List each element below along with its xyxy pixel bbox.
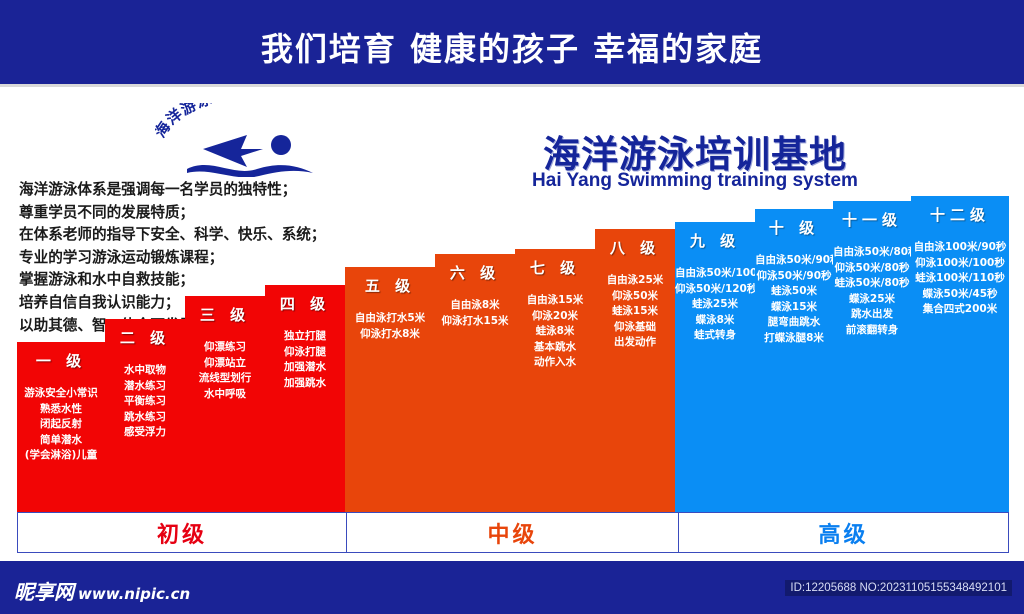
level-title: 七 级 [515, 257, 595, 278]
level-title: 二 级 [105, 327, 185, 348]
level-item: 蛙泳25米 [675, 297, 755, 313]
level-item-list: 自由泳8米仰泳打水15米 [435, 298, 515, 329]
level-item: 蝶泳8米 [675, 313, 755, 329]
level-title: 四 级 [265, 293, 345, 314]
level-item: 蝶泳25米 [833, 292, 911, 308]
level-item: 仰泳50米/120秒 [675, 282, 755, 298]
level-item: 自由泳15米 [515, 293, 595, 309]
level-title: 十二级 [911, 204, 1009, 225]
level-item: 自由泳50米/80秒 [833, 245, 911, 261]
level-item-list: 水中取物潜水练习平衡练习跳水练习感受浮力 [105, 363, 185, 441]
level-item: 仰漂站立 [185, 356, 265, 372]
level-title: 六 级 [435, 262, 515, 283]
level-item: 蛙泳100米/110秒 [911, 271, 1009, 287]
level-item: 独立打腿 [265, 329, 345, 345]
level-item: 加强潜水 [265, 360, 345, 376]
level-item: 基本跳水 [515, 340, 595, 356]
level-item: 腿弯曲跳水 [755, 315, 833, 331]
level-title: 九 级 [675, 230, 755, 251]
level-item-list: 自由泳打水5米仰泳打水8米 [345, 311, 435, 342]
footer-brand: 昵享网www.nipic.cn [14, 576, 190, 605]
footer-brand-name: 昵享网 [14, 580, 74, 604]
level-item-list: 自由泳25米仰泳50米蛙泳15米仰泳基础出发动作 [595, 273, 675, 351]
level-item: 仰泳20米 [515, 309, 595, 325]
level-step[interactable]: 十一级自由泳50米/80秒仰泳50米/80秒蛙泳50米/80秒蝶泳25米跳水出发… [833, 201, 911, 512]
level-item: 仰泳打水8米 [345, 327, 435, 343]
level-item-list: 自由泳50米/90秒仰泳50米/90秒蛙泳50米蝶泳15米腿弯曲跳水打蝶泳腿8米 [755, 253, 833, 346]
level-item: 动作入水 [515, 355, 595, 371]
level-item: 游泳安全小常识 [17, 386, 105, 402]
level-item: 仰泳100米/100秒 [911, 256, 1009, 272]
level-item: 跳水练习 [105, 410, 185, 426]
level-item: 自由泳25米 [595, 273, 675, 289]
level-item-list: 自由泳100米/90秒仰泳100米/100秒蛙泳100米/110秒蝶泳50米/4… [911, 240, 1009, 318]
level-item: 出发动作 [595, 335, 675, 351]
level-item-list: 游泳安全小常识熟悉水性闭起反射简单潜水(学会淋浴)儿童 [17, 386, 105, 464]
level-item-list: 自由泳50米/80秒仰泳50米/80秒蛙泳50米/80秒蝶泳25米跳水出发前滚翻… [833, 245, 911, 338]
level-item: 蛙式转身 [675, 328, 755, 344]
level-item: 感受浮力 [105, 425, 185, 441]
level-step[interactable]: 五 级自由泳打水5米仰泳打水8米 [345, 267, 435, 512]
level-item: 蛙泳15米 [595, 304, 675, 320]
level-item: 加强跳水 [265, 376, 345, 392]
level-item: 仰泳打腿 [265, 345, 345, 361]
level-item-list: 自由泳50米/100秒仰泳50米/120秒蛙泳25米蝶泳8米蛙式转身 [675, 266, 755, 344]
level-title: 八 级 [595, 237, 675, 258]
level-item: 自由泳8米 [435, 298, 515, 314]
level-item-list: 独立打腿仰泳打腿加强潜水加强跳水 [265, 329, 345, 391]
level-step[interactable]: 八 级自由泳25米仰泳50米蛙泳15米仰泳基础出发动作 [595, 229, 675, 512]
level-item: 仰漂练习 [185, 340, 265, 356]
category-label-3[interactable]: 高级 [679, 513, 1008, 552]
level-item: 蝶泳15米 [755, 300, 833, 316]
level-item: 自由泳50米/90秒 [755, 253, 833, 269]
level-item: 仰泳50米 [595, 289, 675, 305]
level-title: 五 级 [345, 275, 435, 296]
level-item: 仰泳50米/90秒 [755, 269, 833, 285]
level-step[interactable]: 九 级自由泳50米/100秒仰泳50米/120秒蛙泳25米蝶泳8米蛙式转身 [675, 222, 755, 512]
level-step[interactable]: 六 级自由泳8米仰泳打水15米 [435, 254, 515, 512]
top-banner: 我们培育 健康的孩子 幸福的家庭 [0, 0, 1024, 84]
level-item-list: 仰漂练习仰漂站立流线型划行水中呼吸 [185, 340, 265, 402]
level-title: 三 级 [185, 304, 265, 325]
level-item: 前滚翻转身 [833, 323, 911, 339]
level-item: 集合四式200米 [911, 302, 1009, 318]
poster-root: 我们培育 健康的孩子 幸福的家庭 海洋游泳培训体系 海洋游泳培训基地 Hai Y… [0, 0, 1024, 614]
level-item: 闭起反射 [17, 417, 105, 433]
level-item: 蛙泳50米 [755, 284, 833, 300]
category-bar: 初级中级高级 [17, 512, 1009, 553]
level-item: 蛙泳50米/80秒 [833, 276, 911, 292]
level-item: 蝶泳50米/45秒 [911, 287, 1009, 303]
level-item-list: 自由泳15米仰泳20米蛙泳8米基本跳水动作入水 [515, 293, 595, 371]
level-item: 水中呼吸 [185, 387, 265, 403]
level-item: 自由泳100米/90秒 [911, 240, 1009, 256]
level-item: 仰泳基础 [595, 320, 675, 336]
level-item: 自由泳50米/100秒 [675, 266, 755, 282]
category-label-2[interactable]: 中级 [347, 513, 679, 552]
brand-logo: 海洋游泳培训体系 [155, 103, 345, 175]
level-item: 流线型划行 [185, 371, 265, 387]
swimmer-icon [185, 129, 315, 177]
level-step[interactable]: 三 级仰漂练习仰漂站立流线型划行水中呼吸 [185, 296, 265, 512]
level-item: 自由泳打水5米 [345, 311, 435, 327]
level-title: 一 级 [17, 350, 105, 371]
level-step[interactable]: 二 级水中取物潜水练习平衡练习跳水练习感受浮力 [105, 319, 185, 512]
level-item: 水中取物 [105, 363, 185, 379]
level-staircase: 一 级游泳安全小常识熟悉水性闭起反射简单潜水(学会淋浴)儿童二 级水中取物潜水练… [17, 196, 1009, 512]
level-item: 跳水出发 [833, 307, 911, 323]
level-item: 平衡练习 [105, 394, 185, 410]
level-item: 熟悉水性 [17, 402, 105, 418]
level-item: 简单潜水 [17, 433, 105, 449]
level-step[interactable]: 四 级独立打腿仰泳打腿加强潜水加强跳水 [265, 285, 345, 512]
level-step[interactable]: 十 级自由泳50米/90秒仰泳50米/90秒蛙泳50米蝶泳15米腿弯曲跳水打蝶泳… [755, 209, 833, 512]
level-step[interactable]: 十二级自由泳100米/90秒仰泳100米/100秒蛙泳100米/110秒蝶泳50… [911, 196, 1009, 512]
page-subtitle: Hai Yang Swimming training system [495, 170, 895, 192]
banner-title: 我们培育 健康的孩子 幸福的家庭 [0, 24, 1024, 70]
level-step[interactable]: 七 级自由泳15米仰泳20米蛙泳8米基本跳水动作入水 [515, 249, 595, 512]
footer-site-url: www.nipic.cn [78, 585, 190, 603]
level-title: 十 级 [755, 217, 833, 238]
level-item: (学会淋浴)儿童 [17, 448, 105, 464]
level-item: 潜水练习 [105, 379, 185, 395]
level-item: 仰泳打水15米 [435, 314, 515, 330]
level-title: 十一级 [833, 209, 911, 230]
level-item: 仰泳50米/80秒 [833, 261, 911, 277]
level-item: 蛙泳8米 [515, 324, 595, 340]
category-label-1[interactable]: 初级 [18, 513, 347, 552]
footer-id-text: ID:12205688 NO:20231105155348492101 [785, 580, 1012, 596]
level-item: 打蝶泳腿8米 [755, 331, 833, 347]
level-step[interactable]: 一 级游泳安全小常识熟悉水性闭起反射简单潜水(学会淋浴)儿童 [17, 342, 105, 512]
